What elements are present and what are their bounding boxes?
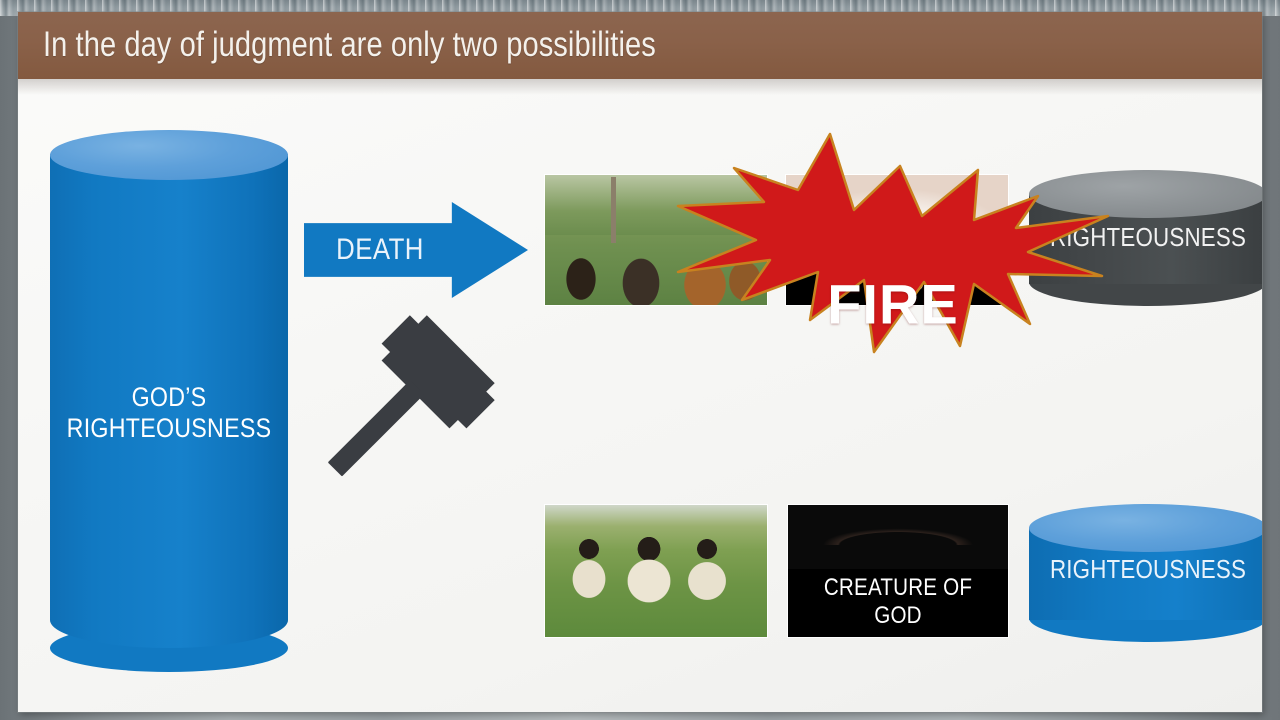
page-title: In the day of judgment are only two poss…	[43, 25, 656, 65]
righteousness-cylinder[interactable]: RIGHTEOUSNESS	[1029, 504, 1262, 644]
photo-goats-pole	[611, 177, 616, 243]
photo-eye-caption: CREATURE OF GOD	[788, 569, 1008, 637]
photo-eye-caption-text: CREATURE OF GOD	[803, 574, 992, 630]
blue-cylinder-top-ellipse	[1029, 504, 1262, 552]
blue-cylinder-label: RIGHTEOUSNESS	[1029, 554, 1262, 585]
fire-label: FIRE	[678, 272, 1108, 337]
photo-eye[interactable]: CREATURE OF GOD	[788, 505, 1008, 637]
fire-text: FIRE	[827, 273, 959, 336]
cylinder-label-line1: GOD’S	[67, 382, 272, 413]
cylinder-label: GOD’S RIGHTEOUSNESS	[50, 382, 288, 444]
slide-root: In the day of judgment are only two poss…	[0, 0, 1280, 720]
gavel-icon	[314, 308, 510, 496]
fire-starburst[interactable]: FIRE	[678, 124, 1108, 352]
title-shadow	[18, 79, 1262, 95]
photo-sheep[interactable]	[545, 505, 767, 637]
slide-canvas: In the day of judgment are only two poss…	[18, 12, 1262, 712]
photo-eye-lashes	[798, 519, 998, 545]
death-arrow[interactable]: DEATH	[304, 202, 528, 298]
death-arrow-label: DEATH	[304, 233, 456, 267]
blue-cylinder-text: RIGHTEOUSNESS	[1046, 554, 1251, 585]
death-arrow-text: DEATH	[315, 233, 446, 267]
cylinder-top-ellipse	[50, 130, 288, 180]
title-bar: In the day of judgment are only two poss…	[18, 12, 1262, 79]
cylinder-label-line2: RIGHTEOUSNESS	[67, 413, 272, 444]
gods-righteousness-cylinder[interactable]: GOD’S RIGHTEOUSNESS	[50, 130, 288, 672]
